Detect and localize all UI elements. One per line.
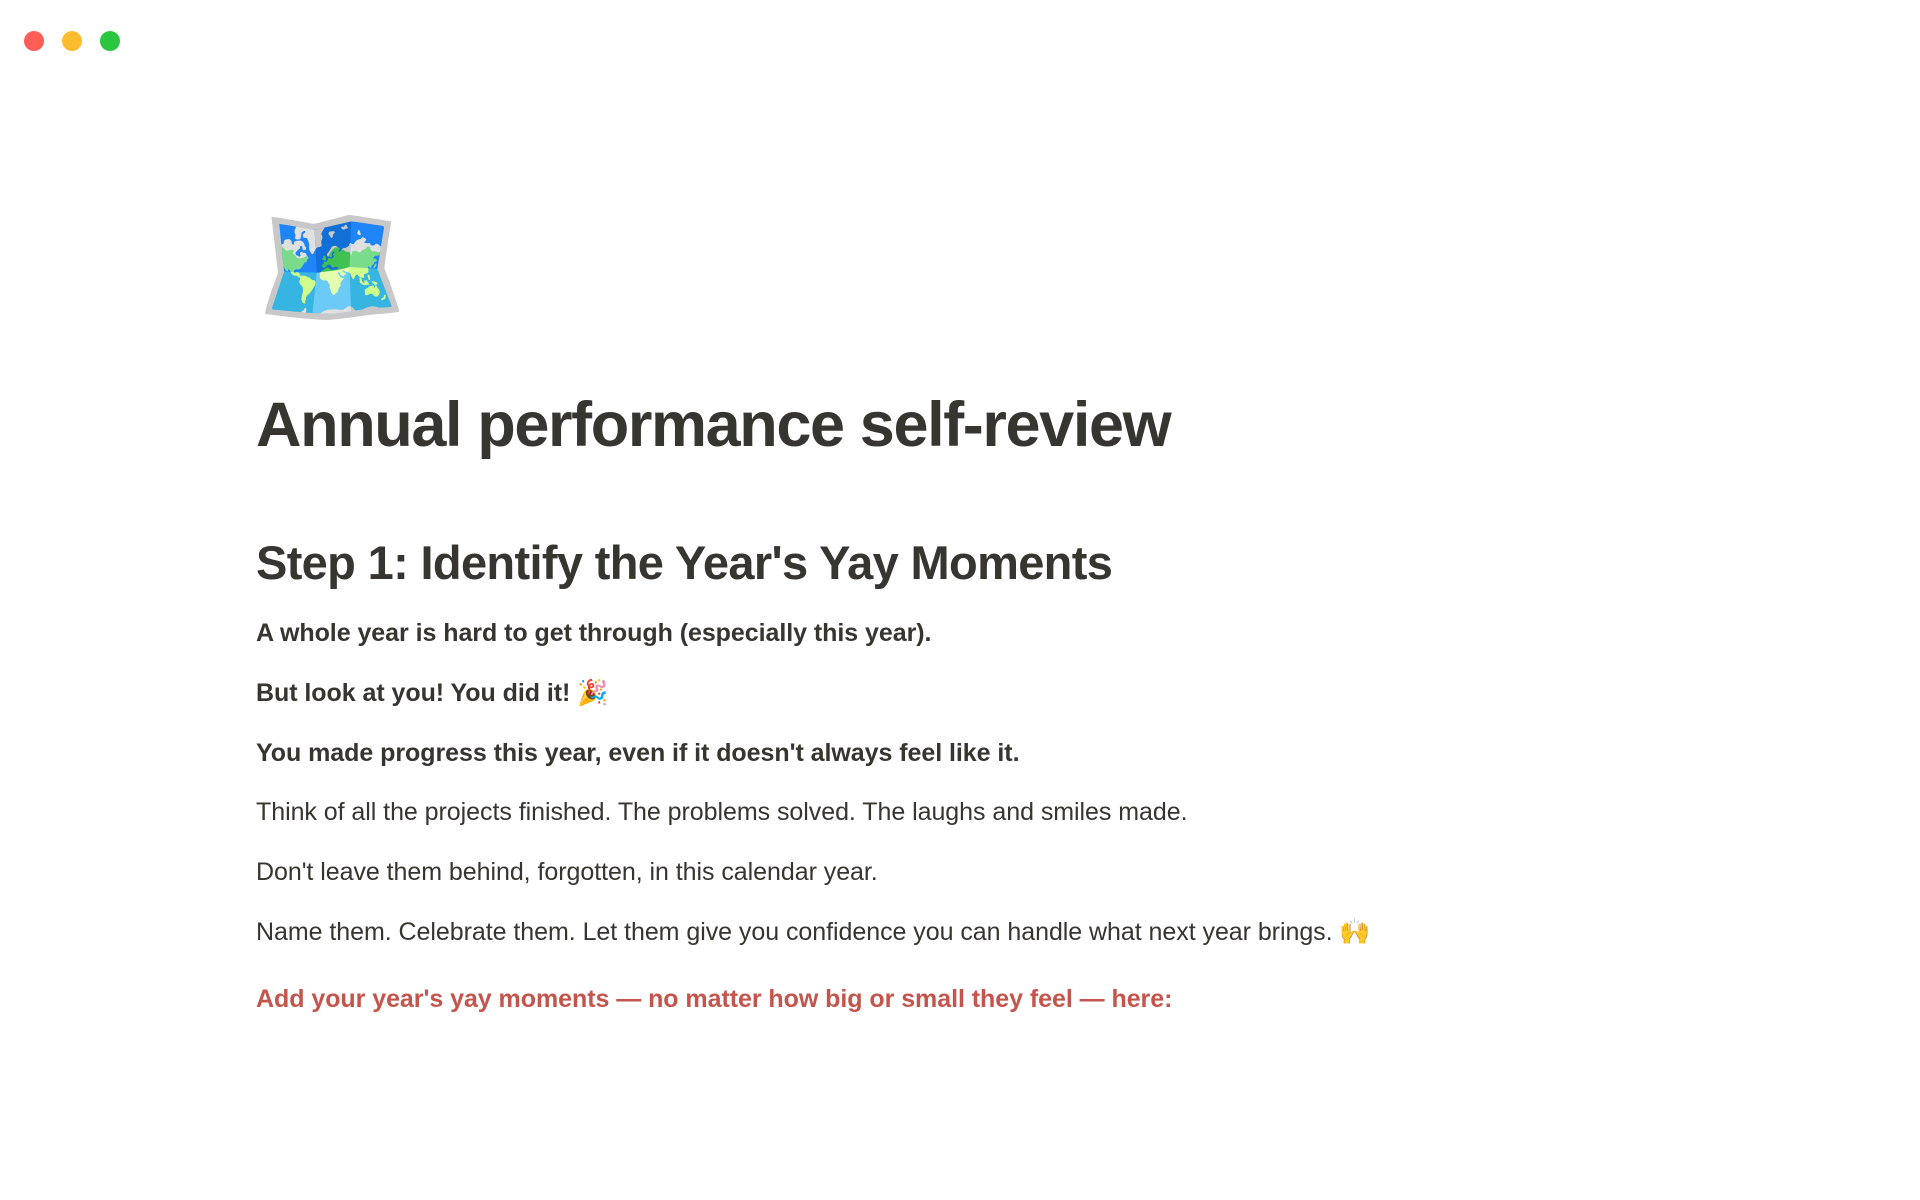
- paragraph-think-of-all-projects[interactable]: Think of all the projects finished. The …: [256, 793, 1800, 832]
- window-controls: [24, 31, 120, 51]
- paragraph-dont-leave-them-behind[interactable]: Don't leave them behind, forgotten, in t…: [256, 853, 1800, 892]
- section-heading-step-1[interactable]: Step 1: Identify the Year's Yay Moments: [256, 534, 1800, 593]
- paragraph-but-look-at-you[interactable]: But look at you! You did it! 🎉: [256, 674, 1800, 713]
- document-scroll-area[interactable]: 🗺️ Annual performance self-review Step 1…: [0, 78, 1920, 1200]
- world-map-emoji[interactable]: 🗺️: [256, 206, 1800, 358]
- document-content: 🗺️ Annual performance self-review Step 1…: [0, 78, 1920, 1018]
- paragraph-name-them-celebrate-them[interactable]: Name them. Celebrate them. Let them give…: [256, 913, 1800, 952]
- close-window-button[interactable]: [24, 31, 44, 51]
- app-window: 🗺️ Annual performance self-review Step 1…: [0, 0, 1920, 1200]
- paragraph-whole-year[interactable]: A whole year is hard to get through (esp…: [256, 614, 1800, 653]
- minimize-window-button[interactable]: [62, 31, 82, 51]
- window-titlebar: [0, 0, 1920, 78]
- paragraph-you-made-progress[interactable]: You made progress this year, even if it …: [256, 734, 1800, 773]
- paragraph-add-your-yay-moments-callout[interactable]: Add your year's yay moments — no matter …: [256, 980, 1800, 1019]
- page-title[interactable]: Annual performance self-review: [256, 388, 1800, 462]
- maximize-window-button[interactable]: [100, 31, 120, 51]
